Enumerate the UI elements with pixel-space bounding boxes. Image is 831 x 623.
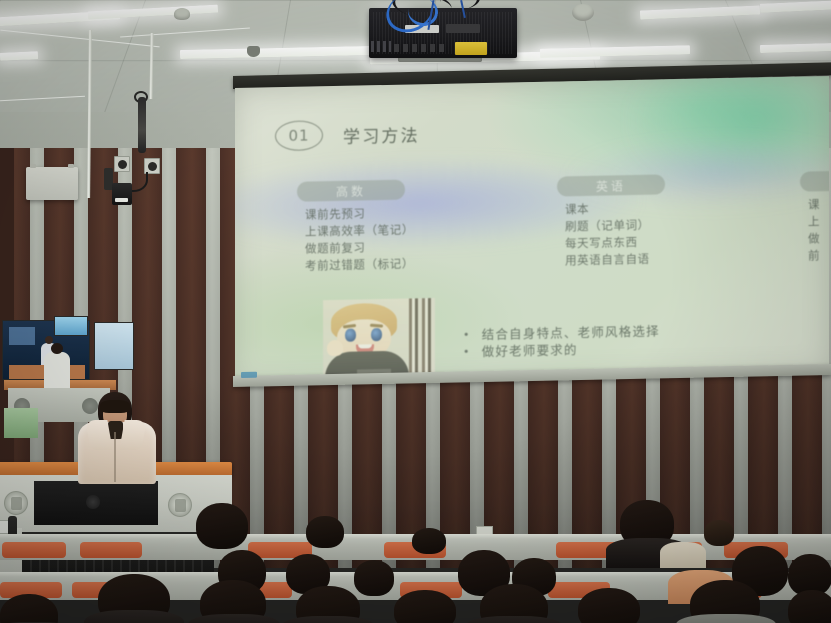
audience-shoulders [466,616,562,623]
projector-ports [394,44,446,52]
monitor-reflected-person [44,352,70,388]
bullet-text: 做好老师要求的 [482,341,578,360]
slide-column-english: 英语 课本 刷题（记单词） 每天写点东西 用英语自言自语 [557,174,665,269]
audience-head [306,516,344,548]
list-item: 做题前复习 [305,238,414,257]
audience-head [394,590,456,623]
slide-content: 01 学习方法 高数 课前先预习 上课高效率（笔记） 做题前复习 考前过错题（标… [235,76,829,384]
slide-number-badge: 01 [275,120,323,151]
bullet-item: • 做好老师要求的 [463,339,660,360]
character-eye [345,329,356,342]
seat-back [2,542,66,558]
list-item: 上 [808,211,829,230]
column-header-pill: 英语 [557,174,665,196]
slide-image-anime-character [323,298,435,378]
slide-header: 01 学习方法 [275,118,420,151]
column-items: 课 上 做 前 [800,194,829,264]
wall-control-box [26,167,78,200]
presenter-jacket-zipper [114,432,116,482]
monitor-glare [9,327,35,345]
projector-warning-label [455,42,487,55]
audience-head [578,588,640,623]
list-item: 考前过错题（标记） [305,255,414,274]
smoke-detector-icon [174,8,190,20]
list-item: 每天写点东西 [565,233,665,252]
projector-knobs [371,41,391,52]
slide-column-math: 高数 课前先预习 上课高效率（笔记） 做题前复习 考前过错题（标记） [297,179,414,274]
list-item: 课 [808,194,829,213]
presenter-bangs [100,400,130,413]
list-item: 做 [808,228,829,247]
audience-head [788,590,831,623]
monitor-right [94,322,134,370]
audience-shoulders [676,614,776,623]
audience-shoulders [188,614,280,623]
list-item: 用英语自言自语 [565,250,665,269]
column-header-pill [800,169,829,191]
ceiling-hook [247,46,260,57]
monitor-small [54,316,88,336]
screen-brand-tag [241,372,257,378]
screen-surface: 01 学习方法 高数 课前先预习 上课高效率（笔记） 做题前复习 考前过错题（标… [235,76,829,384]
character-eye [371,328,382,341]
slide-column-third-cutoff: 课 上 做 前 [800,169,829,264]
projector-brand-plate [446,24,480,33]
list-item: 课本 [565,199,665,218]
ceiling-speaker-icon [572,4,594,21]
power-adapter [112,183,132,205]
audience-head [196,503,248,549]
bullet-dot-icon: • [463,326,471,343]
projection-screen: 01 学习方法 高数 课前先预习 上课高效率（笔记） 做题前复习 考前过错题（标… [233,76,831,392]
audience-shoulders [84,610,184,623]
slide-title: 学习方法 [343,121,420,148]
list-item: 课前先预习 [305,204,414,223]
audience-head [354,560,394,596]
hanging-microphone-icon [138,97,146,153]
image-background-stripes [409,298,435,377]
slide-bullets: • 结合自身特点、老师风格选择 • 做好老师要求的 [463,322,660,360]
audience-head [412,528,446,554]
ceiling-light [0,51,38,61]
list-item: 前 [808,245,829,264]
lecture-hall-photo: 01 学习方法 高数 课前先预习 上课高效率（笔记） 做题前复习 考前过错题（标… [0,0,831,623]
column-header-pill: 高数 [297,180,405,202]
slide-columns: 高数 课前先预习 上课高效率（笔记） 做题前复习 考前过错题（标记） 英语 课本… [235,171,829,183]
seat-back [80,542,142,558]
list-item: 上课高效率（笔记） [305,221,414,240]
column-items: 课本 刷题（记单词） 每天写点东西 用英语自言自语 [557,199,665,269]
audience-shoulders [660,542,706,568]
column-items: 课前先预习 上课高效率（笔记） 做题前复习 考前过错题（标记） [297,204,414,274]
bullet-text: 结合自身特点、老师风格选择 [482,322,660,343]
bullet-dot-icon: • [463,343,471,360]
presenter-at-podium [76,392,158,484]
character-hand [327,340,343,356]
list-item: 刷题（记单词） [565,216,665,235]
green-panel [4,408,38,438]
audience-head [704,520,734,546]
wall-outlet[interactable] [114,156,130,172]
audience-shoulders [282,616,374,623]
audience-seating [0,498,831,623]
